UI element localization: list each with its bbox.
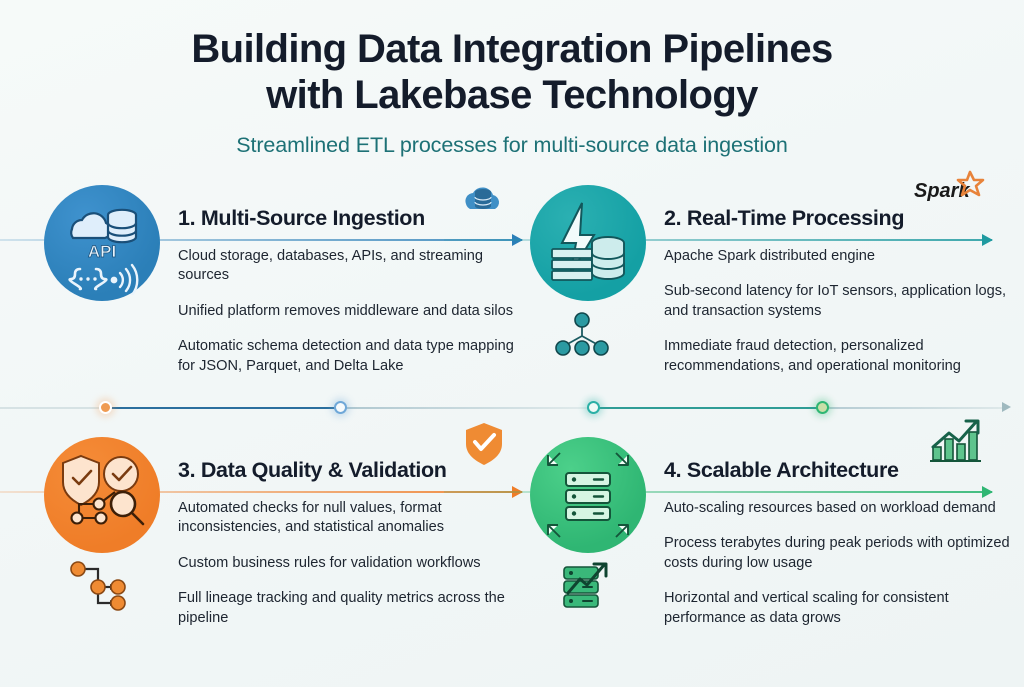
hierarchy-tree-badge bbox=[552, 310, 612, 365]
cloud-database-badge bbox=[456, 176, 510, 223]
shield-check-badge-icon bbox=[462, 419, 506, 465]
header: Building Data Integration Pipelines with… bbox=[0, 0, 1024, 158]
flow-arrow-row2-right bbox=[444, 491, 992, 493]
growth-chart-badge bbox=[926, 417, 984, 470]
section-4-bullets: Auto-scaling resources based on workload… bbox=[664, 499, 1016, 644]
server-stack-icon bbox=[552, 249, 592, 280]
page-subtitle: Streamlined ETL processes for multi-sour… bbox=[0, 118, 1024, 158]
divider-segment bbox=[0, 407, 106, 409]
spark-logo-icon: Spark bbox=[912, 169, 986, 209]
divider-node-blue[interactable] bbox=[334, 401, 347, 414]
flow-line bbox=[444, 491, 992, 493]
shield-check-icon bbox=[63, 456, 99, 505]
section-4-heading: 4. Scalable Architecture bbox=[664, 458, 899, 483]
section-1-heading: 1. Multi-Source Ingestion bbox=[178, 206, 425, 231]
cloud-icon bbox=[71, 213, 111, 238]
divider-segment bbox=[824, 407, 1004, 409]
step-3-circle bbox=[44, 437, 160, 553]
server-trend-icon bbox=[558, 559, 618, 613]
timeline-divider bbox=[0, 400, 1024, 416]
server-stack-icon bbox=[566, 473, 610, 520]
arrow-head-icon bbox=[982, 486, 993, 498]
api-braces-icon bbox=[70, 269, 107, 289]
circle-check-icon bbox=[104, 457, 138, 491]
spark-logo-badge: Spark bbox=[912, 169, 986, 214]
scalable-icon-group bbox=[540, 447, 636, 543]
section-1-bullets: Cloud storage, databases, APIs, and stre… bbox=[178, 247, 524, 392]
step-2-circle bbox=[530, 185, 646, 301]
multi-source-icon-group: API bbox=[50, 191, 154, 295]
divider-arrow-icon bbox=[1002, 402, 1011, 412]
title-line-1: Building Data Integration Pipelines bbox=[0, 27, 1024, 73]
divider-node-orange[interactable] bbox=[99, 401, 112, 414]
divider-segment bbox=[343, 407, 588, 409]
bullet-item: Horizontal and vertical scaling for cons… bbox=[664, 589, 1016, 628]
real-time-icon-group bbox=[540, 195, 636, 291]
growth-bar-chart-icon bbox=[926, 417, 984, 465]
api-label: API bbox=[88, 242, 116, 261]
title-line-2: with Lakebase Technology bbox=[0, 73, 1024, 119]
flow-line bbox=[444, 239, 992, 241]
page-title: Building Data Integration Pipelines with… bbox=[0, 0, 1024, 118]
bullet-item: Apache Spark distributed engine bbox=[664, 247, 1016, 266]
section-3-bullets: Automated checks for null values, format… bbox=[178, 499, 524, 644]
section-2-bullets: Apache Spark distributed engine Sub-seco… bbox=[664, 247, 1016, 392]
arrow-head-icon bbox=[982, 234, 993, 246]
section-2-heading: 2. Real-Time Processing bbox=[664, 206, 904, 231]
divider-node-green[interactable] bbox=[816, 401, 829, 414]
magnifier-icon bbox=[111, 492, 143, 524]
cloud-database-icon bbox=[456, 176, 510, 218]
bullet-item: Automated checks for null values, format… bbox=[178, 499, 524, 538]
bullet-item: Full lineage tracking and quality metric… bbox=[178, 589, 524, 628]
bullet-item: Custom business rules for validation wor… bbox=[178, 554, 524, 573]
infographic-page: Building Data Integration Pipelines with… bbox=[0, 0, 1024, 687]
bullet-item: Sub-second latency for IoT sensors, appl… bbox=[664, 282, 1016, 321]
hierarchy-tree-icon bbox=[552, 310, 612, 360]
divider-node-teal[interactable] bbox=[587, 401, 600, 414]
database-icon bbox=[592, 237, 624, 279]
step-4-circle bbox=[530, 437, 646, 553]
divider-segment bbox=[598, 407, 824, 409]
bullet-item: Immediate fraud detection, personalized … bbox=[664, 337, 1016, 376]
workflow-branch-badge bbox=[66, 561, 136, 618]
bullet-item: Unified platform removes middleware and … bbox=[178, 302, 524, 321]
bullet-item: Automatic schema detection and data type… bbox=[178, 337, 524, 376]
divider-segment bbox=[106, 407, 343, 409]
shield-check-badge bbox=[462, 419, 506, 470]
flow-arrow-row1-right bbox=[444, 239, 992, 241]
stream-signal-icon bbox=[112, 265, 137, 295]
step-1-circle: API bbox=[44, 185, 160, 301]
database-icon bbox=[108, 210, 136, 242]
section-3-heading: 3. Data Quality & Validation bbox=[178, 458, 447, 483]
workflow-branch-icon bbox=[66, 561, 136, 613]
bullet-item: Cloud storage, databases, APIs, and stre… bbox=[178, 247, 524, 286]
bullet-item: Process terabytes during peak periods wi… bbox=[664, 534, 1016, 573]
bullet-item: Auto-scaling resources based on workload… bbox=[664, 499, 1016, 518]
server-trend-badge bbox=[558, 559, 618, 618]
data-quality-icon-group bbox=[53, 446, 151, 544]
